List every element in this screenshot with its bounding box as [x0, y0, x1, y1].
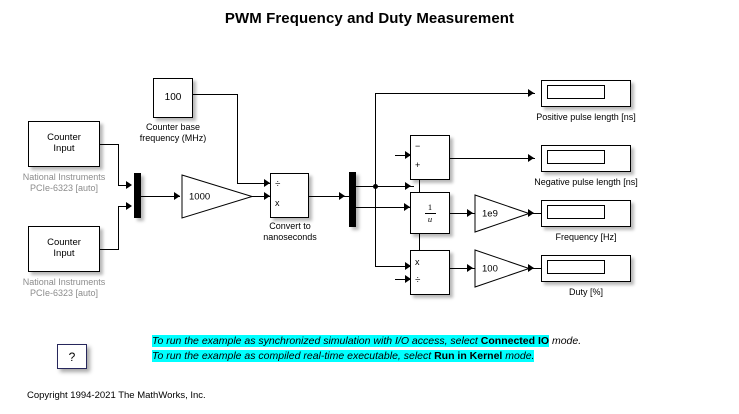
block-counter-input-1[interactable]: Counter Input — [28, 121, 100, 167]
annotation-text: To run the example as synchronized simul… — [152, 334, 581, 364]
gain-1e9-value: 1e9 — [482, 208, 498, 219]
gain-100-value: 100 — [482, 263, 498, 274]
wire-const-out — [193, 94, 238, 95]
reciprocal-numerator: 1 — [428, 203, 432, 212]
counter-input-2-annotation-line2: PCIe-6323 [auto] — [8, 288, 120, 299]
convert-caption-line1: Convert to — [240, 221, 340, 232]
wire-sum-to-display2 — [450, 158, 535, 159]
arrow-mux-in2 — [126, 202, 132, 210]
constant-caption-line2: frequency (MHz) — [118, 133, 228, 144]
annotation-line2-pre: To run the example as compiled real-time… — [152, 350, 434, 362]
annotation-line-2: To run the example as compiled real-time… — [152, 349, 581, 364]
wire-counter2-rise — [118, 206, 119, 250]
annotation-line1-pre: To run the example as synchronized simul… — [152, 335, 481, 347]
display-frequency-value — [547, 205, 605, 219]
arrow-gain1e9-in — [467, 209, 473, 217]
annotation-line1-bold: Connected IO — [481, 335, 549, 347]
arrow-display3-in — [528, 209, 534, 217]
help-button[interactable]: ? — [57, 344, 87, 369]
display-frequency[interactable] — [541, 200, 631, 227]
annotation-line2-bold: Run in Kernel — [434, 350, 502, 362]
display-positive-pulse-length-caption: Positive pulse length [ns] — [531, 112, 641, 123]
wire-counter1-drop — [118, 144, 119, 186]
block-gain-100[interactable]: 100 — [474, 249, 530, 288]
block-convert-to-nanoseconds[interactable]: ÷ x — [270, 173, 309, 218]
block-gain-1e9[interactable]: 1e9 — [474, 194, 530, 233]
counter-input-1-annotation-line2: PCIe-6323 [auto] — [8, 183, 120, 194]
counter-input-1-annotation-line1: National Instruments — [8, 172, 120, 183]
counter-input-2-line2: Input — [53, 249, 74, 260]
annotation-line2-post: mode. — [502, 350, 534, 362]
sum-port-top-symbol: − — [415, 142, 420, 151]
display-frequency-caption: Frequency [Hz] — [531, 232, 641, 243]
page-title: PWM Frequency and Duty Measurement — [0, 10, 739, 27]
annotation-line-1: To run the example as synchronized simul… — [152, 334, 581, 349]
display-negative-pulse-length[interactable] — [541, 145, 631, 172]
convert-caption-line2: nanoseconds — [240, 232, 340, 243]
duty-port-top-symbol: x — [415, 258, 420, 267]
sum-port-bottom-symbol: + — [415, 161, 420, 170]
arrow-display4-in — [528, 264, 534, 272]
counter-input-2-annotation-line1: National Instruments — [8, 277, 120, 288]
wire-out1-to-display1 — [375, 93, 535, 94]
gain-1000-value: 1000 — [189, 191, 210, 202]
arrow-mux-in1 — [126, 181, 132, 189]
convert-port-bottom-symbol: x — [275, 199, 280, 208]
demux-block[interactable] — [349, 172, 356, 227]
arrow-demux-in — [339, 192, 345, 200]
block-reciprocal[interactable]: 1 u — [410, 192, 450, 234]
display-positive-pulse-length-value — [547, 85, 605, 99]
display-duty-caption: Duty [%] — [531, 287, 641, 298]
arrow-display1-in — [528, 89, 534, 97]
wire-const-drop — [237, 94, 238, 184]
mux-block[interactable] — [134, 173, 141, 218]
annotation-line1-post: mode. — [549, 335, 581, 347]
display-positive-pulse-length[interactable] — [541, 80, 631, 107]
simulink-model-canvas: PWM Frequency and Duty Measurement Count… — [0, 0, 739, 414]
block-sum-negative-pulse[interactable]: − + — [410, 135, 450, 180]
reciprocal-denominator: u — [428, 215, 432, 224]
counter-input-1-line2: Input — [53, 144, 74, 155]
arrow-display2-in — [528, 154, 534, 162]
arrow-sum-in-minus — [405, 182, 411, 190]
display-negative-pulse-length-caption: Negative pulse length [ns] — [531, 177, 641, 188]
arrow-gain100-in — [467, 264, 473, 272]
wire-counter1-out — [100, 144, 119, 145]
constant-caption-line1: Counter base — [118, 122, 228, 133]
wire-counter2-out — [100, 249, 119, 250]
display-negative-pulse-length-value — [547, 150, 605, 164]
help-button-label: ? — [69, 350, 76, 364]
block-constant-counter-base-frequency[interactable]: 100 — [153, 78, 193, 118]
block-counter-input-2[interactable]: Counter Input — [28, 226, 100, 272]
copyright-text: Copyright 1994-2021 The MathWorks, Inc. — [27, 390, 206, 401]
block-product-duty[interactable]: x ÷ — [410, 250, 450, 295]
constant-value: 100 — [165, 92, 182, 104]
display-duty-value — [547, 260, 605, 274]
duty-port-bottom-symbol: ÷ — [415, 276, 421, 286]
block-gain-1000[interactable]: 1000 — [181, 174, 253, 219]
display-duty[interactable] — [541, 255, 631, 282]
convert-port-top-symbol: ÷ — [275, 180, 281, 190]
wire-out1-down — [375, 186, 376, 267]
wire-out1-up — [375, 93, 376, 187]
arrow-gain1000-in — [174, 192, 180, 200]
